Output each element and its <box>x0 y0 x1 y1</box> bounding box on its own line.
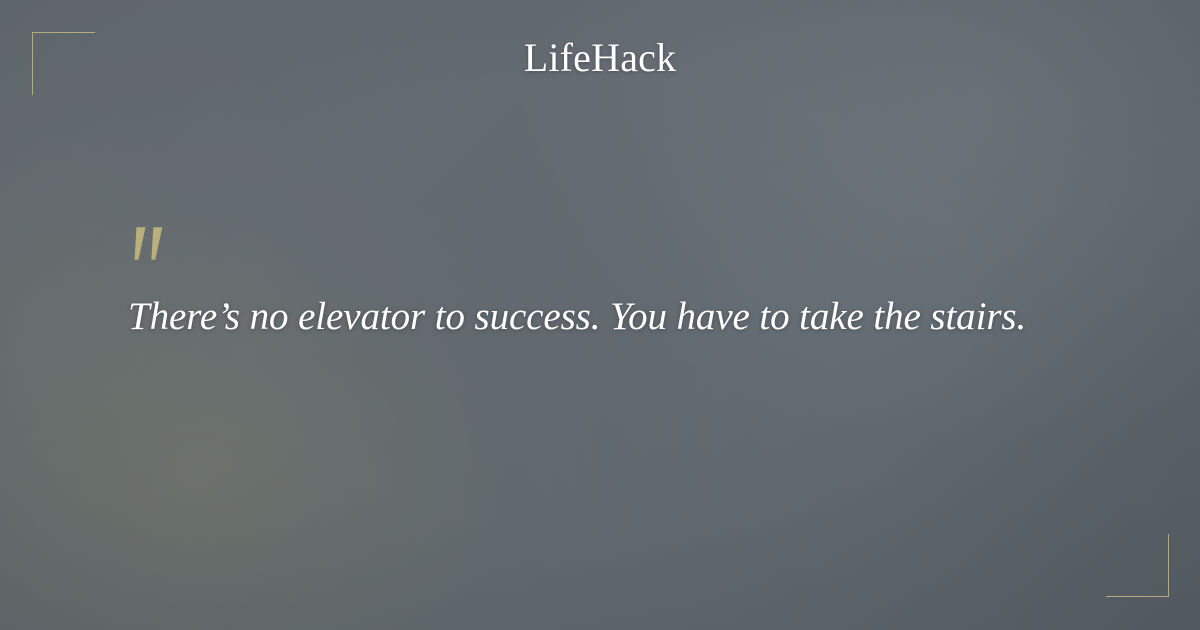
corner-bracket-bottom-right-icon <box>1106 534 1169 597</box>
quote-text: There’s no elevator to success. You have… <box>128 292 1088 342</box>
brand-wordmark: LifeHack <box>0 38 1200 78</box>
quote-mark-icon <box>132 226 176 266</box>
quote-card: LifeHack There’s no elevator to success.… <box>0 0 1200 630</box>
